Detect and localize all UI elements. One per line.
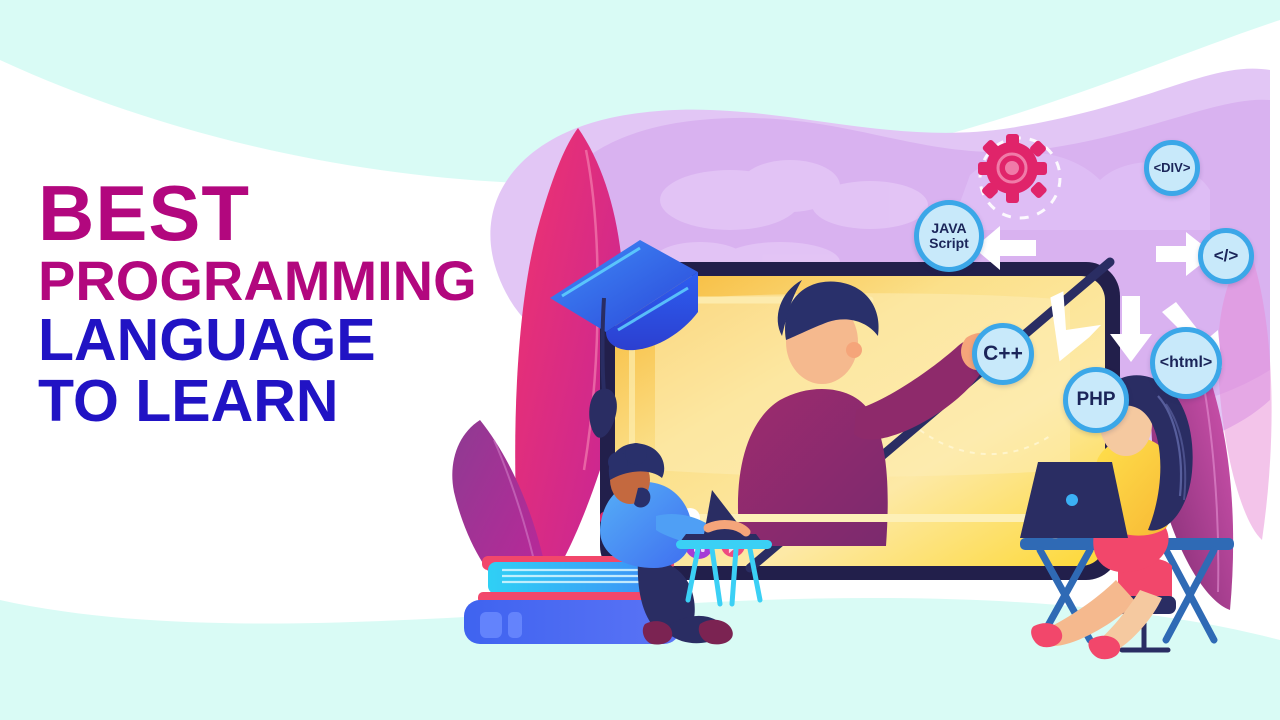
headline-line-4: TO LEARN	[38, 373, 508, 430]
headline-block: BEST PROGRAMMING LANGUAGE TO LEARN	[38, 176, 508, 430]
badge-javascript[interactable]: JAVA Script	[914, 200, 984, 272]
badge-cpp-label: C++	[983, 343, 1023, 365]
badge-php-label: PHP	[1076, 390, 1115, 410]
badge-html-label: <html>	[1160, 355, 1212, 372]
headline-line-1: BEST	[38, 176, 508, 252]
badge-div[interactable]: <DIV>	[1144, 140, 1200, 196]
badge-javascript-line2: Script	[929, 236, 969, 251]
badge-html[interactable]: <html>	[1150, 327, 1222, 399]
badge-div-label: <DIV>	[1154, 161, 1191, 175]
headline-line-3: LANGUAGE	[38, 312, 508, 369]
badge-code[interactable]: </>	[1198, 228, 1254, 284]
badge-cpp[interactable]: C++	[972, 323, 1034, 385]
headline-line-2: PROGRAMMING	[38, 254, 508, 308]
badge-javascript-line1: JAVA	[929, 221, 969, 236]
badge-code-label: </>	[1214, 247, 1239, 265]
badge-php[interactable]: PHP	[1063, 367, 1129, 433]
poster-canvas: BEST PROGRAMMING LANGUAGE TO LEARN	[0, 0, 1280, 720]
